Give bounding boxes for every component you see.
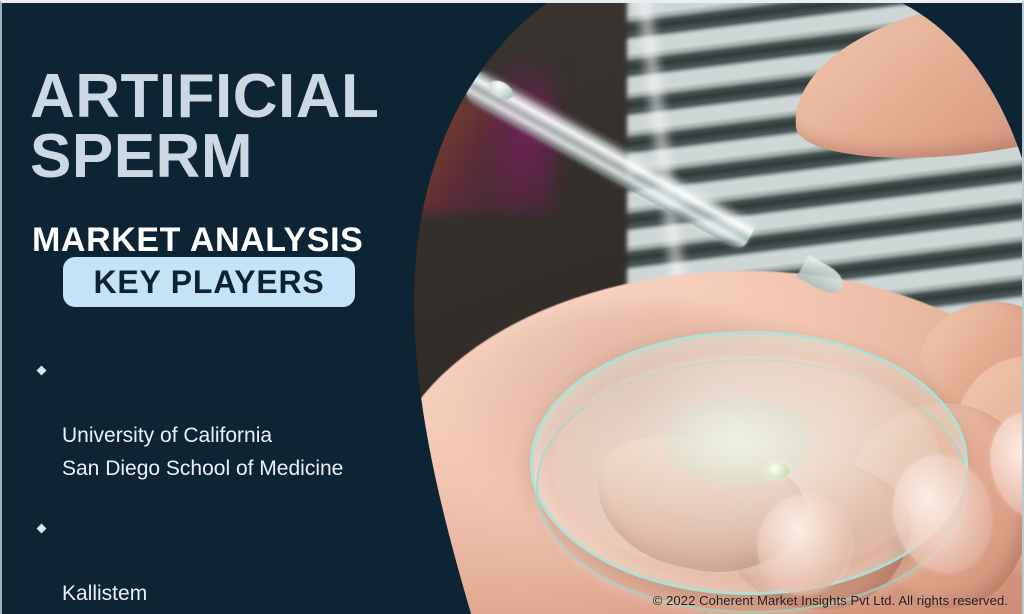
diamond-bullet-icon: [37, 524, 47, 534]
laboratory-photo: [402, 3, 1024, 614]
key-players-badge: Key Players: [63, 257, 355, 307]
diamond-bullet-icon: [37, 366, 47, 376]
market-analysis-banner: Artificial Sperm Market Analysis Key Pla…: [0, 0, 1024, 614]
key-players-list: University of California San Diego Schoo…: [36, 355, 436, 614]
key-players-badge-label: Key Players: [93, 264, 324, 301]
key-player-name: University of California San Diego Schoo…: [62, 424, 343, 480]
copyright-notice: © 2022 Coherent Market Insights Pvt Ltd.…: [2, 593, 1008, 608]
page-title: Artificial Sperm: [30, 67, 450, 189]
list-item: University of California San Diego Schoo…: [36, 355, 436, 485]
page-subtitle: Market Analysis: [32, 221, 363, 260]
text-panel: Artificial Sperm Market Analysis Key Pla…: [2, 3, 472, 614]
